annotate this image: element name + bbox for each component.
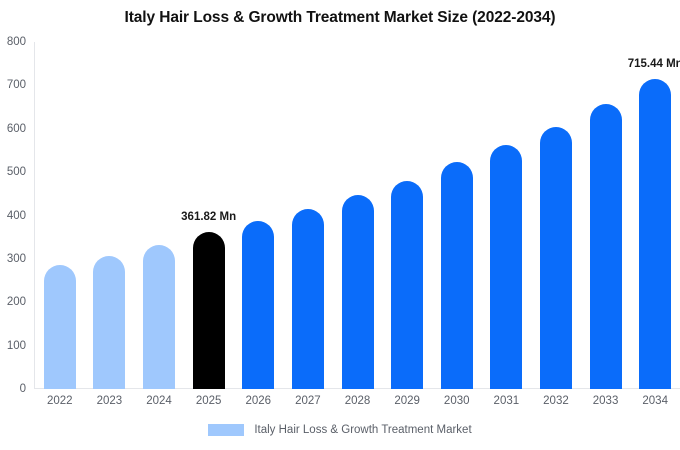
chart-legend: Italy Hair Loss & Growth Treatment Marke… [0, 424, 680, 436]
x-tick-label-2028: 2028 [345, 395, 371, 407]
y-tick-label: 600 [7, 123, 26, 135]
bar-2025[interactable] [193, 232, 225, 389]
y-tick-label: 400 [7, 210, 26, 222]
x-axis-tick-labels: 2022202320242025202620272028202920302031… [35, 395, 680, 413]
x-tick-label-2022: 2022 [47, 395, 73, 407]
bar-2027[interactable] [292, 209, 324, 389]
bar-group-2034[interactable]: 715.44 Mn [639, 42, 671, 389]
bar-series: 361.82 Mn715.44 Mn [35, 42, 680, 389]
bar-group-2033[interactable] [590, 42, 622, 389]
x-tick-label-2031: 2031 [494, 395, 520, 407]
bar-group-2030[interactable] [441, 42, 473, 389]
x-tick-label-2025: 2025 [196, 395, 222, 407]
x-tick-label-2032: 2032 [543, 395, 569, 407]
x-tick-label-2030: 2030 [444, 395, 470, 407]
bar-2028[interactable] [342, 195, 374, 389]
y-tick-label: 800 [7, 36, 26, 48]
bar-value-label-2025: 361.82 Mn [181, 211, 236, 223]
bar-group-2029[interactable] [391, 42, 423, 389]
bar-value-label-2034: 715.44 Mn [628, 58, 680, 70]
y-tick-label: 500 [7, 166, 26, 178]
bar-group-2024[interactable] [143, 42, 175, 389]
y-tick-label: 700 [7, 79, 26, 91]
bar-2022[interactable] [44, 265, 76, 389]
bar-group-2028[interactable] [342, 42, 374, 389]
x-tick-label-2023: 2023 [97, 395, 123, 407]
x-tick-label-2029: 2029 [394, 395, 420, 407]
y-tick-label: 200 [7, 296, 26, 308]
legend-label-italy-hair-loss-market: Italy Hair Loss & Growth Treatment Marke… [254, 424, 471, 436]
x-tick-label-2034: 2034 [642, 395, 668, 407]
y-tick-label: 0 [20, 383, 26, 395]
x-tick-label-2027: 2027 [295, 395, 321, 407]
bar-group-2023[interactable] [93, 42, 125, 389]
x-tick-label-2033: 2033 [593, 395, 619, 407]
x-tick-label-2026: 2026 [245, 395, 271, 407]
bar-group-2032[interactable] [540, 42, 572, 389]
bar-group-2027[interactable] [292, 42, 324, 389]
y-tick-label: 300 [7, 253, 26, 265]
bar-2026[interactable] [242, 221, 274, 389]
x-tick-label-2024: 2024 [146, 395, 172, 407]
chart-title: Italy Hair Loss & Growth Treatment Marke… [0, 9, 680, 27]
chart-container: Italy Hair Loss & Growth Treatment Marke… [0, 0, 680, 450]
bar-2033[interactable] [590, 104, 622, 389]
bar-2031[interactable] [490, 145, 522, 389]
bar-2024[interactable] [143, 245, 175, 389]
bar-group-2022[interactable] [44, 42, 76, 389]
bar-2023[interactable] [93, 256, 125, 389]
bar-group-2026[interactable] [242, 42, 274, 389]
bar-2029[interactable] [391, 181, 423, 389]
bar-2032[interactable] [540, 127, 572, 389]
y-tick-label: 100 [7, 340, 26, 352]
bar-2034[interactable] [639, 79, 671, 389]
plot-area: 8007006005004003002001000 361.82 Mn715.4… [34, 42, 680, 389]
bar-group-2025[interactable]: 361.82 Mn [193, 42, 225, 389]
legend-swatch-italy-hair-loss-market [208, 424, 244, 436]
bar-group-2031[interactable] [490, 42, 522, 389]
bar-2030[interactable] [441, 162, 473, 389]
